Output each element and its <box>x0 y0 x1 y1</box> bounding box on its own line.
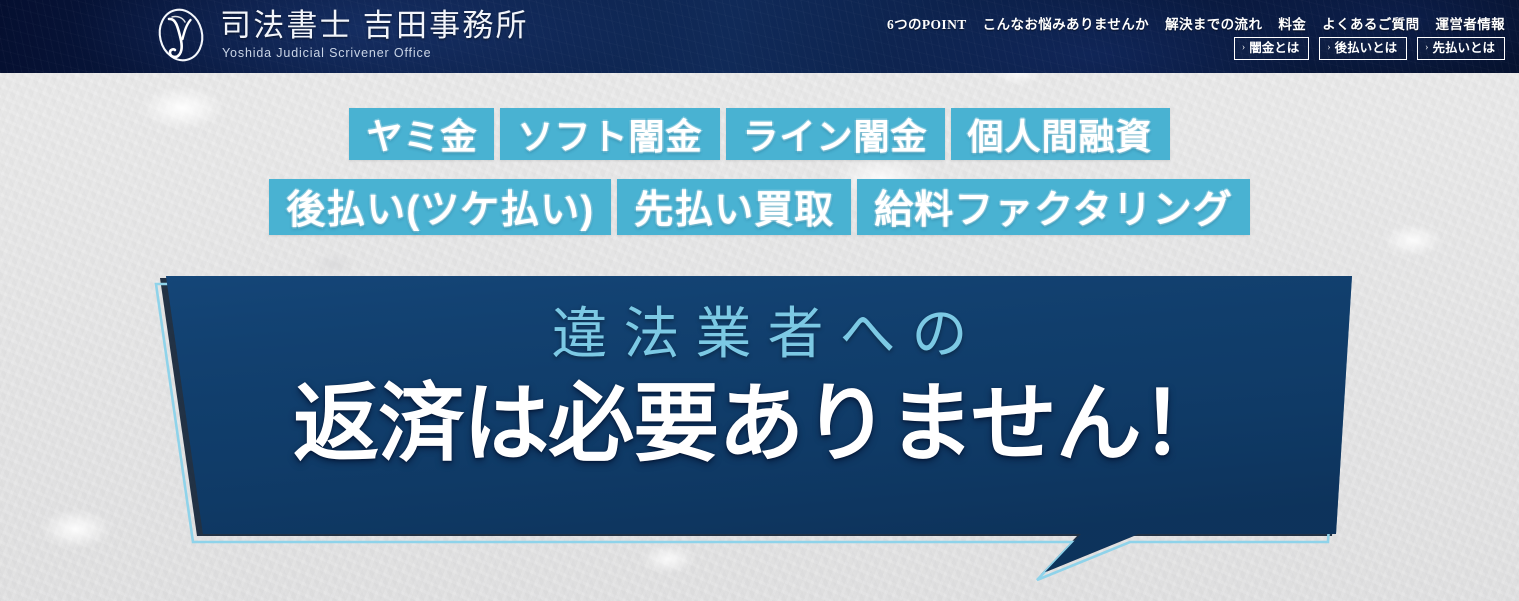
hero-speech-bubble: 違法業者への 返済は必要ありません！ <box>0 262 1519 582</box>
keyword-tag[interactable]: ヤミ金 <box>349 108 494 160</box>
site-header: 司法書士 吉田事務所 Yoshida Judicial Scrivener Of… <box>0 0 1519 73</box>
keyword-tag-row-1: ヤミ金ソフト闇金ライン闇金個人間融資 <box>0 108 1519 160</box>
nav-operator-info[interactable]: 運営者情報 <box>1436 13 1506 33</box>
nav-common-worries[interactable]: こんなお悩みありませんか <box>983 13 1149 33</box>
pill-label: 闇金とは <box>1249 41 1299 55</box>
keyword-tag[interactable]: 個人間融資 <box>951 108 1170 160</box>
yoshida-monogram-icon <box>152 7 210 63</box>
pill-what-is-sakibarai[interactable]: ›先払いとは <box>1417 37 1505 60</box>
nav-pricing[interactable]: 料金 <box>1278 13 1306 33</box>
pill-what-is-yamikin[interactable]: ›闇金とは <box>1234 37 1309 60</box>
speech-bubble-shape <box>0 262 1519 582</box>
chevron-right-icon: › <box>1327 42 1330 53</box>
site-logo[interactable]: 司法書士 吉田事務所 Yoshida Judicial Scrivener Of… <box>152 7 529 63</box>
nav-six-points[interactable]: 6つのPOINT <box>887 13 967 33</box>
chevron-right-icon: › <box>1425 42 1428 53</box>
keyword-tag[interactable]: ライン闇金 <box>726 108 945 160</box>
keyword-tag[interactable]: 先払い買取 <box>617 179 851 235</box>
keyword-tag[interactable]: 給料ファクタリング <box>857 179 1249 235</box>
pill-label: 後払いとは <box>1335 41 1398 55</box>
keyword-tag[interactable]: 後払い(ツケ払い) <box>269 179 611 235</box>
main-navigation: 6つのPOINTこんなお悩みありませんか解決までの流れ料金よくあるご質問運営者情… <box>887 13 1505 33</box>
brand-name-en: Yoshida Judicial Scrivener Office <box>222 47 529 61</box>
brand-name-jp: 司法書士 吉田事務所 <box>220 10 529 42</box>
keyword-tag[interactable]: ソフト闇金 <box>500 108 719 160</box>
nav-resolution-flow[interactable]: 解決までの流れ <box>1165 13 1262 33</box>
pill-what-is-atobarai[interactable]: ›後払いとは <box>1319 37 1407 60</box>
pill-label: 先払いとは <box>1432 41 1495 55</box>
keyword-tag-row-2: 後払い(ツケ払い)先払い買取給料ファクタリング <box>0 179 1519 235</box>
nav-faq[interactable]: よくあるご質問 <box>1322 13 1419 33</box>
sub-navigation: ›闇金とは›後払いとは›先払いとは <box>1234 37 1505 60</box>
chevron-right-icon: › <box>1242 42 1245 53</box>
page-root: 司法書士 吉田事務所 Yoshida Judicial Scrivener Of… <box>0 0 1519 601</box>
